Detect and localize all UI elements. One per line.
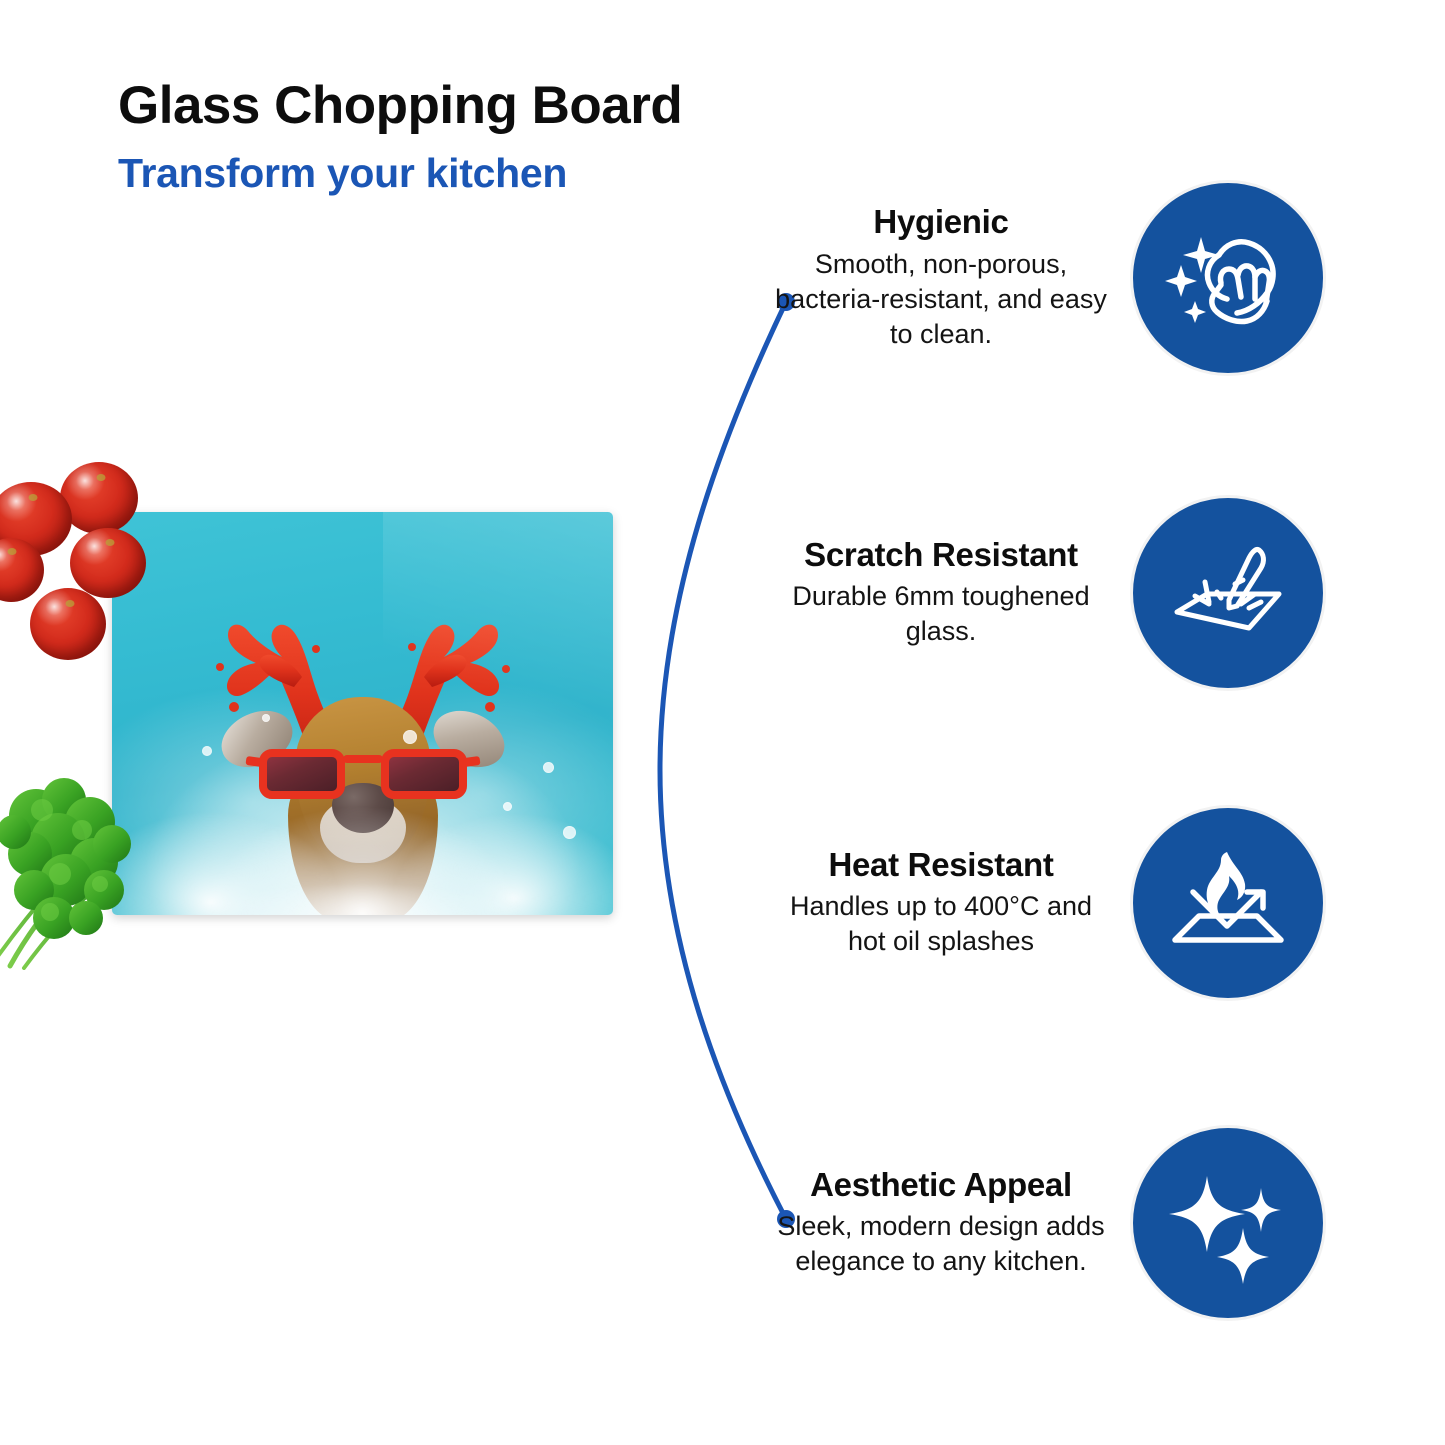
feature-text-block: Heat Resistant Handles up to 400°C and h… <box>770 847 1130 959</box>
water-droplet <box>403 730 417 744</box>
feature-description: Smooth, non-porous, bacteria-resistant, … <box>770 247 1112 352</box>
tomato-stem <box>8 548 17 555</box>
water-droplet <box>262 714 270 722</box>
feature-title: Aesthetic Appeal <box>770 1167 1112 1203</box>
page-subtitle: Transform your kitchen <box>118 150 878 197</box>
feature-description: Durable 6mm toughened glass. <box>770 579 1112 649</box>
page-title: Glass Chopping Board <box>118 78 878 134</box>
sparkles-icon <box>1130 1125 1326 1321</box>
feature-title: Heat Resistant <box>770 847 1112 883</box>
feature-scratch-resistant: Scratch Resistant Durable 6mm toughened … <box>770 495 1326 691</box>
heading-block: Glass Chopping Board Transform your kitc… <box>118 78 878 197</box>
tomato-stem <box>96 474 105 481</box>
feature-hygienic: Hygienic Smooth, non-porous, bacteria-re… <box>770 180 1326 376</box>
feature-heat-resistant: Heat Resistant Handles up to 400°C and h… <box>770 805 1326 1001</box>
feature-description: Handles up to 400°C and hot oil splashes <box>770 889 1112 959</box>
hand-wiping-sparkle-icon <box>1130 180 1326 376</box>
flame-deflecting-surface-icon <box>1130 805 1326 1001</box>
tomato <box>70 528 146 598</box>
product-image <box>0 440 650 980</box>
water-droplet <box>503 802 512 811</box>
feature-text-block: Aesthetic Appeal Sleek, modern design ad… <box>770 1167 1130 1279</box>
parsley-bunch <box>0 770 204 970</box>
tomato-stem <box>65 600 74 607</box>
water-droplet <box>543 762 554 773</box>
feature-text-block: Hygienic Smooth, non-porous, bacteria-re… <box>770 204 1130 352</box>
tomato-stem <box>105 539 114 546</box>
water-droplet <box>202 746 212 756</box>
tomato-stem <box>28 494 37 501</box>
feature-aesthetic-appeal: Aesthetic Appeal Sleek, modern design ad… <box>770 1125 1326 1321</box>
feature-description: Sleek, modern design adds elegance to an… <box>770 1209 1112 1279</box>
tomato <box>30 588 106 660</box>
feature-title: Hygienic <box>770 204 1112 240</box>
feature-text-block: Scratch Resistant Durable 6mm toughened … <box>770 537 1130 649</box>
feature-title: Scratch Resistant <box>770 537 1112 573</box>
infographic-canvas: Glass Chopping Board Transform your kitc… <box>0 0 1445 1445</box>
knife-scratching-surface-icon <box>1130 495 1326 691</box>
